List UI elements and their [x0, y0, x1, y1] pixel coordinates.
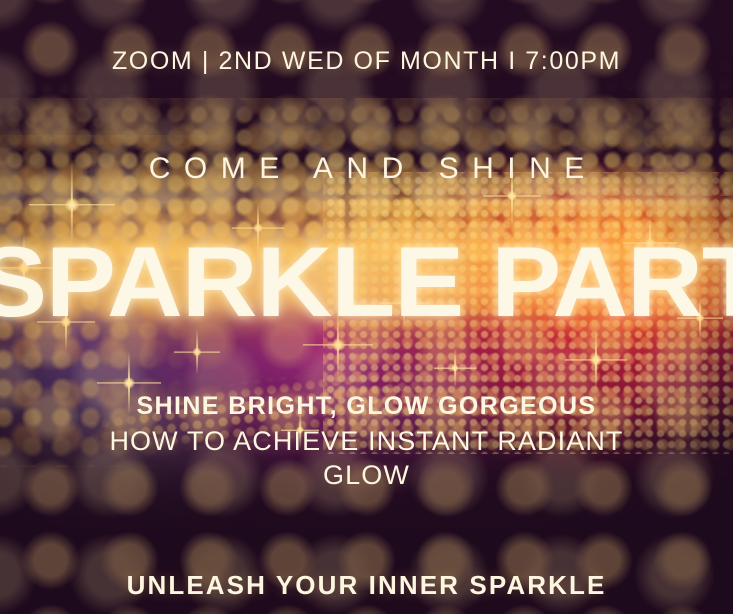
subtitle-light: HOW TO ACHIEVE INSTANT RADIANT GLOW	[107, 424, 627, 492]
event-details-line: ZOOM | 2ND WED OF MONTH I 7:00PM	[0, 47, 733, 76]
tagline: COME AND SHINE	[0, 152, 733, 186]
footer-slogan: UNLEASH YOUR INNER SPARKLE	[0, 570, 733, 601]
sparkle-party-poster: ZOOM | 2ND WED OF MONTH I 7:00PM COME AN…	[0, 0, 733, 614]
page-title: SPARKLE PARTY	[0, 232, 733, 331]
subtitle-bold: SHINE BRIGHT, GLOW GORGEOUS	[0, 392, 733, 421]
